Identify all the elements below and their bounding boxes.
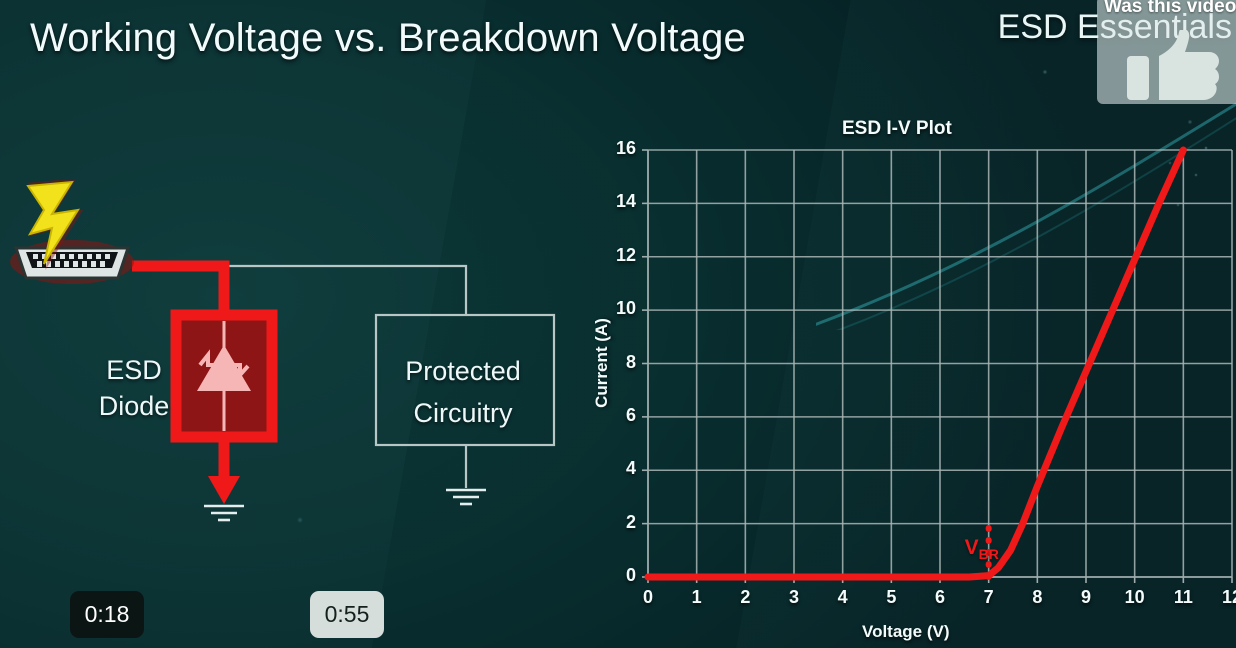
thumbs-up-icon[interactable] [1127,30,1219,100]
signal-wire [145,266,466,315]
protected-circuitry-label: Protected Circuitry [381,350,545,434]
esd-diode-label: ESD Diode [88,352,180,424]
feedback-overlay-text: Was this video [1104,0,1236,18]
current-direction-arrow [208,476,240,504]
ground-symbol-icon [204,506,244,520]
timestamp-badge-start[interactable]: 0:18 [70,591,144,638]
protected-label-line2: Circuitry [381,392,545,434]
esd-diode-label-line2: Diode [88,388,180,424]
protected-label-line1: Protected [381,350,545,392]
page-title: Working Voltage vs. Breakdown Voltage [30,16,746,61]
esd-current-path [132,266,224,315]
ground-symbol-icon-2 [446,490,486,504]
chart-plot-area [580,108,1236,648]
breakdown-voltage-annotation-label: VBR [965,536,999,562]
esd-diode-component [176,315,272,437]
esd-iv-chart: ESD I-V Plot Current (A) Voltage (V) 012… [580,108,1236,648]
esd-diode-label-line1: ESD [88,352,180,388]
chart-axes [642,150,1232,583]
chart-gridlines [648,150,1232,577]
slide-canvas: Working Voltage vs. Breakdown Voltage ES… [0,0,1236,648]
hdmi-connector-icon [10,240,134,284]
timestamp-badge-end[interactable]: 0:55 [310,591,384,638]
